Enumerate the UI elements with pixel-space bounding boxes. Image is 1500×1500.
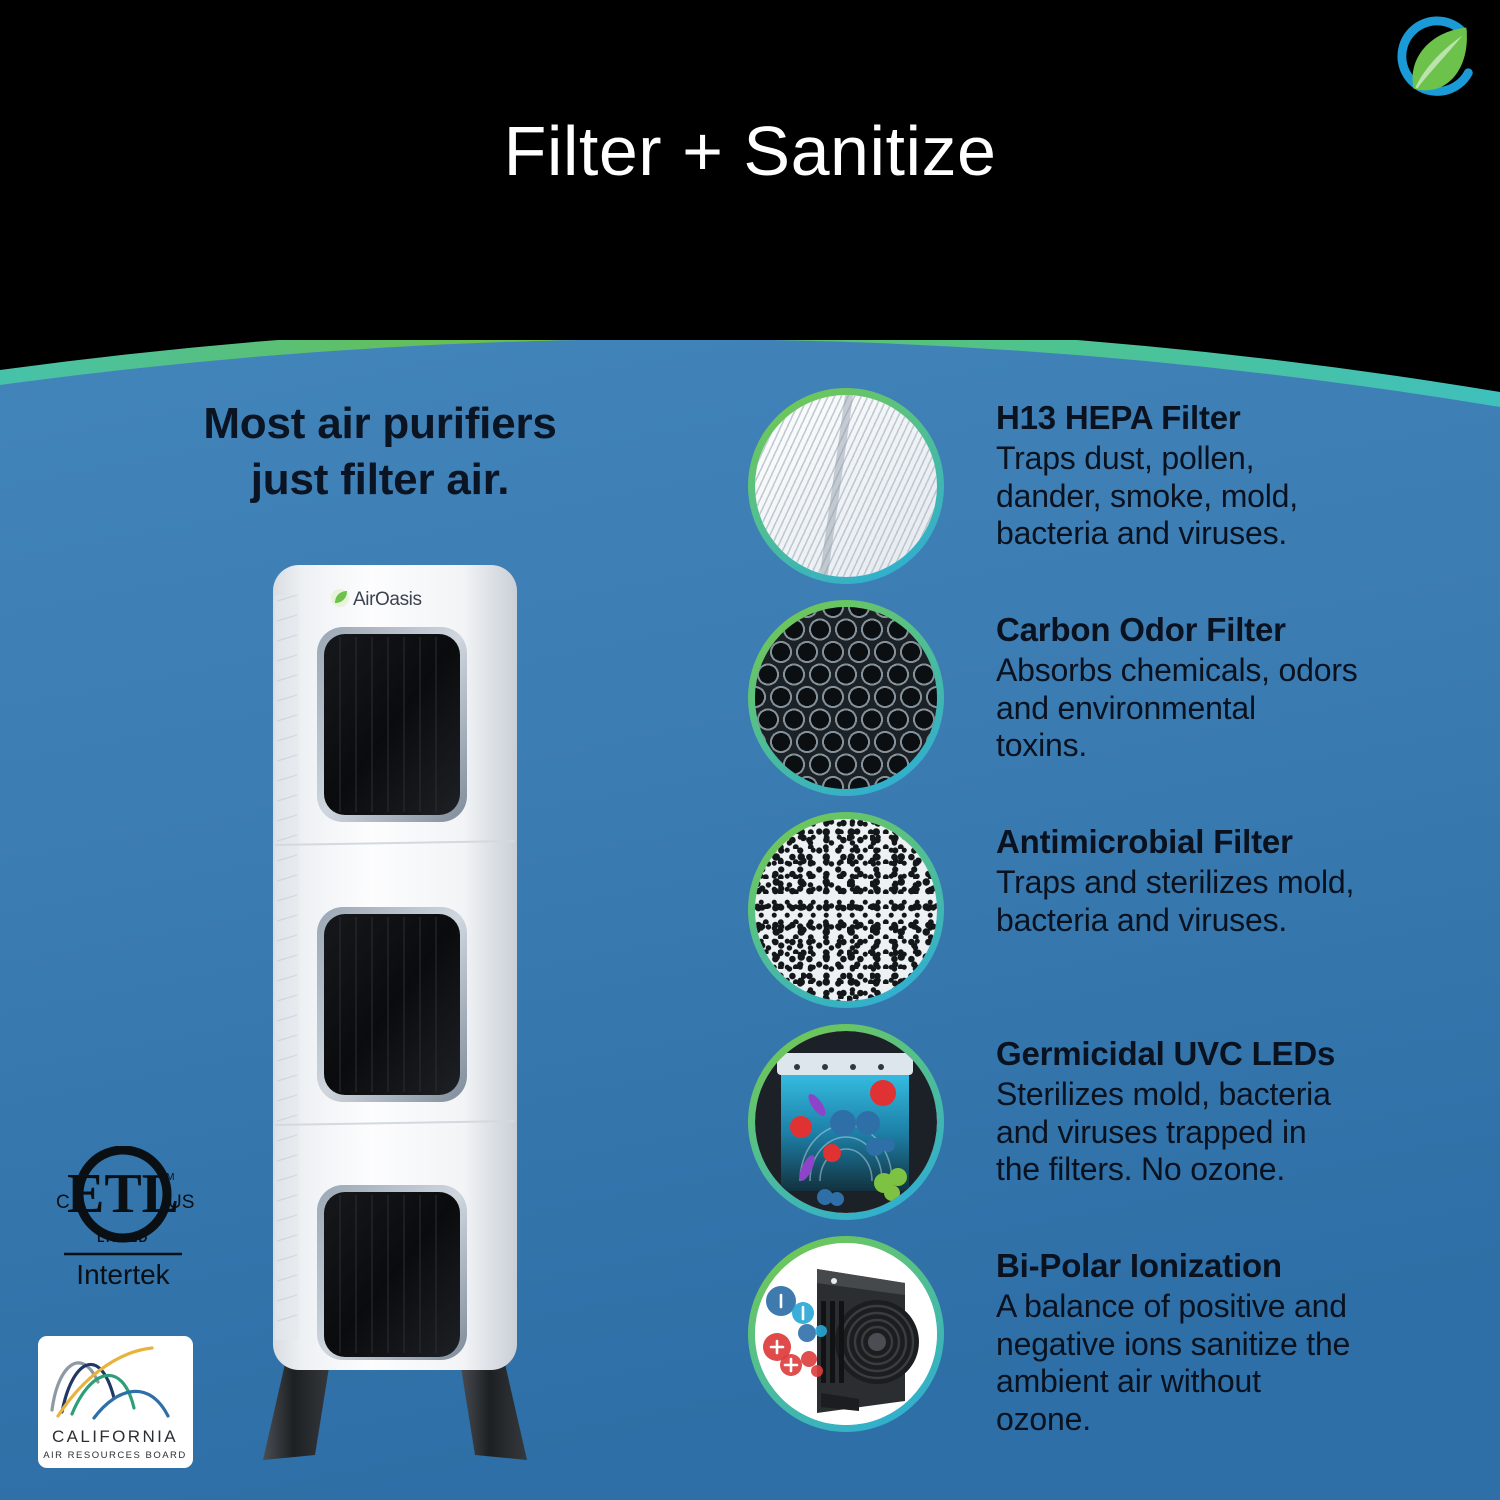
air-purifier-product-image: AirOasis xyxy=(245,555,545,1485)
page-title: Filter + Sanitize xyxy=(0,116,1500,186)
etl-intertek-badge: ETL TM LISTED C US Intertek xyxy=(38,1146,208,1296)
feature-title: Antimicrobial Filter xyxy=(996,824,1488,861)
svg-text:AirOasis: AirOasis xyxy=(353,589,422,610)
purifier-grille-panel-top xyxy=(317,627,467,822)
feature-row-hepa: H13 HEPA Filter Traps dust, pollen, dand… xyxy=(748,388,1488,584)
header-band: Filter + Sanitize xyxy=(0,0,1500,340)
bipolar-ionization-thumbnail xyxy=(748,1236,944,1432)
feature-row-bipolar: Bi-Polar Ionization A balance of positiv… xyxy=(748,1236,1488,1439)
intertek-text: Intertek xyxy=(76,1259,170,1290)
infographic-page: Filter + Sanitize Most air purifiers jus… xyxy=(0,0,1500,1500)
antimicrobial-filter-thumbnail xyxy=(748,812,944,1008)
etl-c-marker: C xyxy=(56,1192,70,1213)
left-heading: Most air purifiers just filter air. xyxy=(40,396,720,509)
feature-row-carbon: Carbon Odor Filter Absorbs chemicals, od… xyxy=(748,600,1488,796)
purifier-legs xyxy=(263,1355,527,1460)
purifier-grille-panel-bottom xyxy=(317,1185,467,1360)
airoasis-leaf-logo-icon xyxy=(1386,12,1484,110)
feature-row-antimicrobial: Antimicrobial Filter Traps and sterilize… xyxy=(748,812,1488,1008)
purifier-grille-panel-middle xyxy=(317,907,467,1102)
carbon-filter-thumbnail xyxy=(748,600,944,796)
uvc-led-thumbnail xyxy=(748,1024,944,1220)
etl-us-marker: US xyxy=(168,1192,194,1213)
feature-description: Traps dust, pollen, dander, smoke, mold,… xyxy=(996,440,1488,553)
feature-title: H13 HEPA Filter xyxy=(996,400,1488,437)
fan-unit xyxy=(817,1269,919,1413)
feature-description: Sterilizes mold, bacteria and viruses tr… xyxy=(996,1076,1488,1189)
feature-description: A balance of positive and negative ions … xyxy=(996,1288,1488,1439)
carb-badge: CALIFORNIA AIR RESOURCES BOARD xyxy=(38,1336,193,1468)
carb-line2: AIR RESOURCES BOARD xyxy=(43,1450,187,1461)
carb-line1: CALIFORNIA xyxy=(52,1427,178,1446)
feature-row-uvc: Germicidal UVC LEDs Sterilizes mold, bac… xyxy=(748,1024,1488,1220)
etl-listed-text: LISTED xyxy=(97,1231,149,1245)
etl-tm-text: TM xyxy=(160,1172,174,1183)
feature-description: Traps and sterilizes mold, bacteria and … xyxy=(996,864,1488,940)
feature-title: Bi-Polar Ionization xyxy=(996,1248,1488,1285)
feature-description: Absorbs chemicals, odors and environment… xyxy=(996,652,1488,765)
purifier-side-vents xyxy=(275,595,299,1340)
hepa-filter-thumbnail xyxy=(748,388,944,584)
feature-list: H13 HEPA Filter Traps dust, pollen, dand… xyxy=(748,388,1488,1455)
feature-title: Carbon Odor Filter xyxy=(996,612,1488,649)
feature-title: Germicidal UVC LEDs xyxy=(996,1036,1488,1073)
